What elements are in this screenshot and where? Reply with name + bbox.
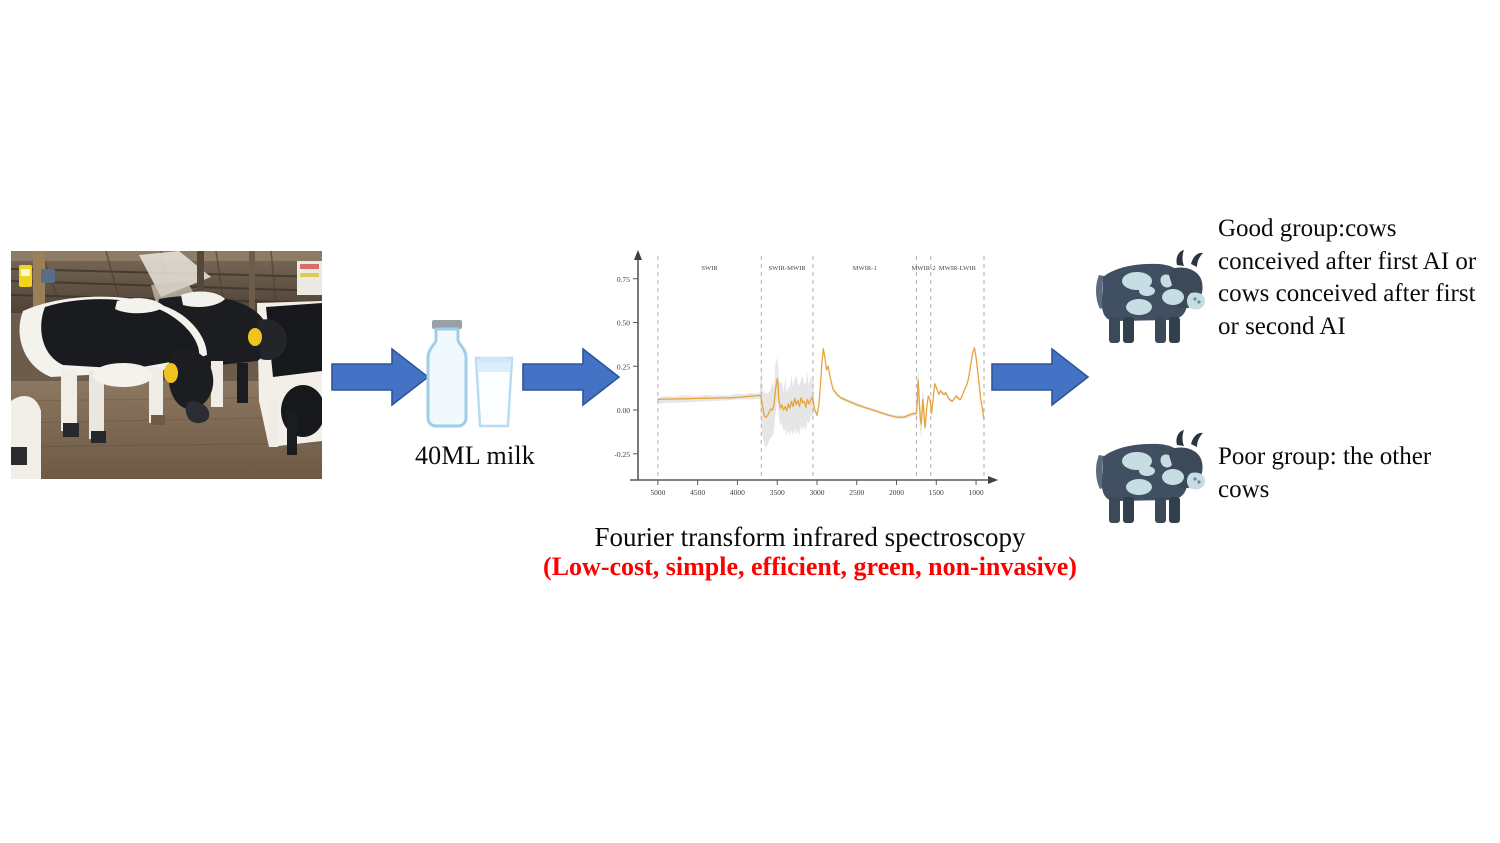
milk-glass-icon	[476, 357, 512, 426]
region-labels: SWIRSWIR-MWIRMWIR-1MWIR-2MWIR-LWIR	[701, 265, 976, 272]
good-group-text: Good group:cows conceived after first AI…	[1218, 213, 1498, 343]
svg-text:MWIR-2: MWIR-2	[911, 265, 935, 272]
svg-text:0.75: 0.75	[617, 275, 630, 284]
svg-text:0.00: 0.00	[617, 406, 630, 415]
cow-barn-photo	[11, 251, 322, 479]
figure-canvas: 40ML milk 0.750.500.250.00-0.25 50004500…	[0, 0, 1500, 843]
svg-text:-0.25: -0.25	[614, 450, 630, 459]
svg-text:SWIR-MWIR: SWIR-MWIR	[768, 265, 806, 272]
caption-title: Fourier transform infrared spectroscopy	[470, 522, 1150, 552]
confidence-band	[658, 346, 984, 447]
chart-axes	[630, 250, 998, 484]
svg-text:2000: 2000	[889, 488, 904, 497]
milk-sample-label: 40ML milk	[380, 441, 570, 471]
ftir-spectrum-chart: 0.750.500.250.00-0.25 500045004000350030…	[600, 248, 1000, 500]
svg-text:2500: 2500	[849, 488, 864, 497]
svg-text:4500: 4500	[690, 488, 705, 497]
svg-text:0.25: 0.25	[617, 362, 630, 371]
svg-text:3000: 3000	[809, 488, 824, 497]
svg-text:1000: 1000	[969, 488, 984, 497]
svg-text:5000: 5000	[650, 488, 665, 497]
svg-text:4000: 4000	[730, 488, 745, 497]
svg-text:1500: 1500	[929, 488, 944, 497]
poor-group-text: Poor group: the other cows	[1218, 441, 1488, 506]
spectrum-line	[658, 348, 984, 428]
svg-text:0.50: 0.50	[617, 319, 630, 328]
svg-text:MWIR-1: MWIR-1	[853, 265, 877, 272]
cow-icon-poor-group	[1085, 425, 1210, 525]
svg-text:MWIR-LWIR: MWIR-LWIR	[939, 265, 977, 272]
cow-icon-good-group	[1085, 245, 1210, 345]
y-axis-ticks: 0.750.500.250.00-0.25	[614, 275, 638, 459]
svg-text:SWIR: SWIR	[701, 265, 718, 272]
caption-highlight: (Low-cost, simple, efficient, green, non…	[470, 552, 1150, 582]
x-axis-ticks: 500045004000350030002500200015001000	[650, 480, 983, 497]
milk-bottle-icon	[428, 320, 466, 426]
figure-caption: Fourier transform infrared spectroscopy …	[470, 522, 1150, 582]
arrow-spectrum-to-groups	[990, 346, 1090, 408]
svg-text:3500: 3500	[770, 488, 785, 497]
